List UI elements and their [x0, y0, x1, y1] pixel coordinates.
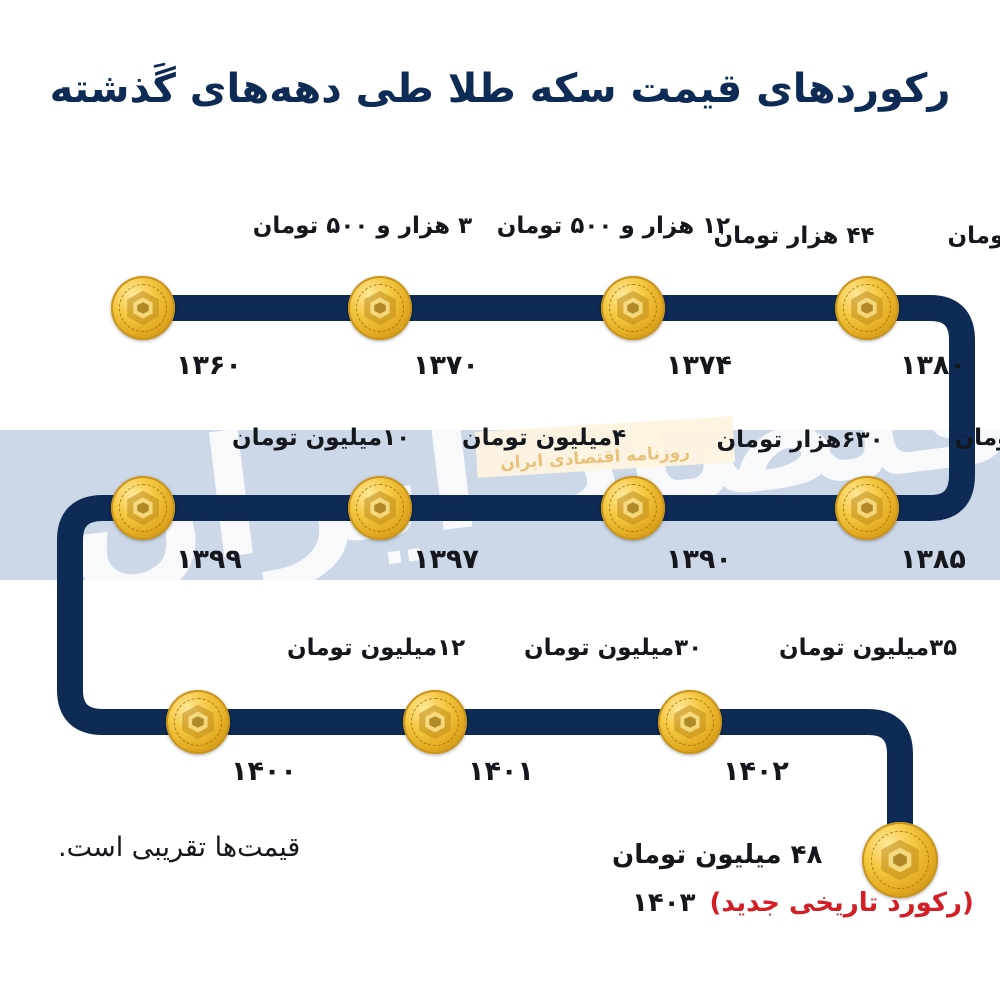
- record-year-row: (رکورد تاریخی جدید) ۱۴۰۳: [632, 888, 974, 918]
- coin-marker: [111, 276, 175, 340]
- year-label: ۱۳۹۰: [666, 544, 732, 575]
- coin-marker: [835, 476, 899, 540]
- coin-marker: [658, 690, 722, 754]
- page-title: رکوردهای قیمت سکه طلا طی دهه‌های گَذشته: [0, 62, 1000, 116]
- year-label: ۱۳۷۴: [666, 350, 732, 381]
- price-label: ۴میلیون تومان: [462, 424, 626, 453]
- coin-marker: [601, 476, 665, 540]
- year-label: ۱۴۰۱: [468, 756, 534, 787]
- price-label: ۱۶۵ هزار تومان: [955, 424, 1000, 453]
- price-label: ۱۲ هزار و ۵۰۰ تومان: [497, 212, 730, 241]
- price-label: ۶۰ هزار تومان: [948, 222, 1000, 251]
- year-label: ۱۳۹۷: [413, 544, 479, 575]
- infographic-canvas: اقتصاد ایران روزنامه اقتصادی ایران رکورد…: [0, 0, 1000, 1000]
- record-year-label: ۱۴۰۳: [632, 888, 695, 918]
- year-label: ۱۳۷۰: [413, 350, 479, 381]
- year-label: ۱۳۶۰: [176, 350, 242, 381]
- record-badge: (رکورد تاریخی جدید): [709, 888, 973, 918]
- coin-marker: [166, 690, 230, 754]
- price-label: ۱۰میلیون تومان: [232, 424, 410, 453]
- coin-marker-record: [862, 822, 938, 898]
- price-label: ۶۳۰هزار تومان: [717, 426, 884, 455]
- coin-marker: [348, 276, 412, 340]
- year-label: ۱۳۹۹: [176, 544, 242, 575]
- record-price-label: ۴۸ میلیون تومان: [612, 840, 822, 870]
- price-label: ۳۰میلیون تومان: [524, 634, 702, 663]
- footer-note: قیمت‌ها تقریبی است.: [58, 832, 300, 863]
- coin-marker: [403, 690, 467, 754]
- price-label: ۴۴ هزار تومان: [714, 222, 875, 251]
- year-label: ۱۳۸۰: [900, 350, 966, 381]
- price-label: ۳۵میلیون تومان: [779, 634, 957, 663]
- year-label: ۱۴۰۰: [231, 756, 297, 787]
- coin-marker: [835, 276, 899, 340]
- coin-marker: [601, 276, 665, 340]
- price-label: ۱۲میلیون تومان: [287, 634, 465, 663]
- year-label: ۱۴۰۲: [723, 756, 789, 787]
- coin-marker: [348, 476, 412, 540]
- coin-marker: [111, 476, 175, 540]
- year-label: ۱۳۸۵: [900, 544, 966, 575]
- price-label: ۳ هزار و ۵۰۰ تومان: [253, 212, 472, 241]
